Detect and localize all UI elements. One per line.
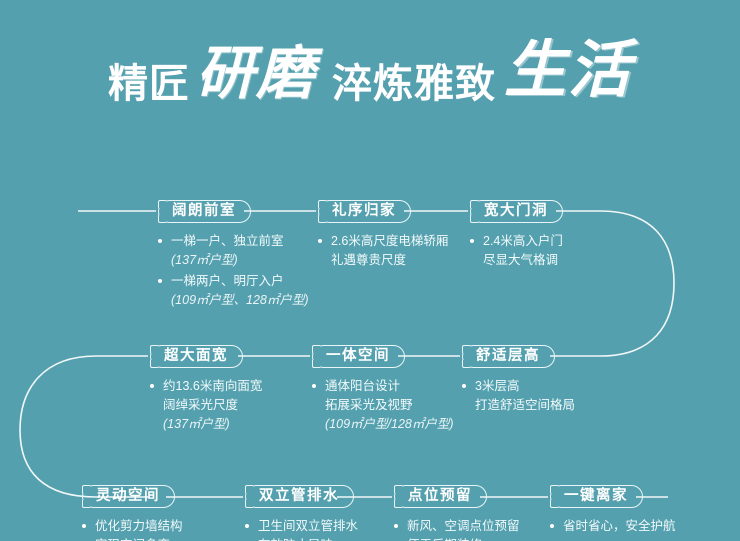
feature-card-yijian-lijia: 一键离家 省时省心，安全护航 xyxy=(550,485,676,538)
feature-card-chaoda-miankuan: 超大面宽 约13.6米南向面宽 阔绰采光尺度 (137㎡户型) xyxy=(150,345,262,436)
feature-card-lixu-guijia: 礼序归家 2.6米高尺度电梯轿厢 礼遇尊贵尺度 xyxy=(318,200,448,272)
bullet-line: 有效防止异味 xyxy=(258,536,358,541)
feature-badge[interactable]: 一键离家 xyxy=(550,485,643,508)
feature-card-dianwei-yuliu: 点位预留 新风、空调点位预留 便于后期装修 xyxy=(394,485,520,541)
bullet-line: 3米层高 xyxy=(475,377,575,395)
bullet-dot-icon xyxy=(550,524,554,528)
feature-bullet-list: 3米层高 打造舒适空间格局 xyxy=(462,377,575,414)
feature-title: 灵动空间 xyxy=(96,488,160,504)
feature-badge[interactable]: 双立管排水 xyxy=(245,485,354,508)
bullet-dot-icon xyxy=(462,384,466,388)
feature-badge[interactable]: 阔朗前室 xyxy=(158,200,251,223)
list-item: 一梯一户、独立前室 (137㎡户型) xyxy=(158,232,309,269)
feature-card-kuanda-mendong: 宽大门洞 2.4米高入户门 尽显大气格调 xyxy=(470,200,563,272)
bullet-line: 实现空间多变 xyxy=(95,536,183,541)
list-item: 通体阳台设计 拓展采光及视野 (109㎡户型/128㎡户型) xyxy=(312,377,454,433)
headline-segment-1: 精匠 xyxy=(108,64,190,104)
feature-card-lingdong-kongjian: 灵动空间 优化剪力墙结构 实现空间多变 xyxy=(82,485,183,541)
bullet-dot-icon xyxy=(245,524,249,528)
feature-card-yiti-kongjian: 一体空间 通体阳台设计 拓展采光及视野 (109㎡户型/128㎡户型) xyxy=(312,345,454,436)
feature-badge[interactable]: 宽大门洞 xyxy=(470,200,563,223)
list-item: 一梯两户、明厅入户 (109㎡户型、128㎡户型) xyxy=(158,272,309,309)
feature-bullet-list: 省时省心，安全护航 xyxy=(550,517,676,535)
bullet-line: 通体阳台设计 xyxy=(325,377,454,395)
list-item: 新风、空调点位预留 便于后期装修 xyxy=(394,517,520,541)
bullet-dot-icon xyxy=(158,239,162,243)
bullet-line: 一梯两户、明厅入户 xyxy=(171,272,309,290)
feature-bullet-list: 2.4米高入户门 尽显大气格调 xyxy=(470,232,563,269)
bullet-line-sub: (109㎡户型/128㎡户型) xyxy=(325,415,454,433)
feature-title: 宽大门洞 xyxy=(484,203,548,219)
feature-bullet-list: 通体阳台设计 拓展采光及视野 (109㎡户型/128㎡户型) xyxy=(312,377,454,433)
feature-badge[interactable]: 舒适层高 xyxy=(462,345,555,368)
feature-title: 礼序归家 xyxy=(332,203,396,219)
feature-badge[interactable]: 点位预留 xyxy=(394,485,487,508)
bullet-line-sub: (109㎡户型、128㎡户型) xyxy=(171,291,309,309)
feature-badge[interactable]: 灵动空间 xyxy=(82,485,175,508)
bullet-line: 2.6米高尺度电梯轿厢 xyxy=(331,232,448,250)
page-title: 精匠研磨淬炼雅致生活 xyxy=(0,40,740,126)
bullet-dot-icon xyxy=(150,384,154,388)
feature-bullet-list: 一梯一户、独立前室 (137㎡户型) 一梯两户、明厅入户 (109㎡户型、128… xyxy=(158,232,309,309)
feature-bullet-list: 新风、空调点位预留 便于后期装修 xyxy=(394,517,520,541)
bullet-line-sub: (137㎡户型) xyxy=(171,251,309,269)
bullet-dot-icon xyxy=(394,524,398,528)
poster-root: 精匠研磨淬炼雅致生活 阔朗前室 一梯一户、独立前室 (137㎡户型) xyxy=(0,0,740,541)
feature-title: 一体空间 xyxy=(326,348,390,364)
bullet-line: 一梯一户、独立前室 xyxy=(171,232,309,250)
bullet-line: 尽显大气格调 xyxy=(483,251,563,269)
feature-badge[interactable]: 礼序归家 xyxy=(318,200,411,223)
bullet-line: 卫生间双立管排水 xyxy=(258,517,358,535)
list-item: 3米层高 打造舒适空间格局 xyxy=(462,377,575,414)
feature-title: 双立管排水 xyxy=(259,488,339,504)
bullet-line: 省时省心，安全护航 xyxy=(563,517,676,535)
feature-bullet-list: 优化剪力墙结构 实现空间多变 xyxy=(82,517,183,541)
headline-segment-2: 研磨 xyxy=(196,45,316,103)
bullet-line: 阔绰采光尺度 xyxy=(163,396,262,414)
bullet-line: 优化剪力墙结构 xyxy=(95,517,183,535)
headline-segment-4: 生活 xyxy=(504,40,632,102)
list-item: 2.6米高尺度电梯轿厢 礼遇尊贵尺度 xyxy=(318,232,448,269)
bullet-dot-icon xyxy=(318,239,322,243)
feature-card-shuangliguan-paishui: 双立管排水 卫生间双立管排水 有效防止异味 xyxy=(245,485,358,541)
list-item: 优化剪力墙结构 实现空间多变 xyxy=(82,517,183,541)
bullet-dot-icon xyxy=(312,384,316,388)
feature-bullet-list: 2.6米高尺度电梯轿厢 礼遇尊贵尺度 xyxy=(318,232,448,269)
bullet-line: 新风、空调点位预留 xyxy=(407,517,520,535)
feature-title: 阔朗前室 xyxy=(172,203,236,219)
connector-right-uturn xyxy=(550,211,674,356)
bullet-line: 打造舒适空间格局 xyxy=(475,396,575,414)
feature-badge[interactable]: 一体空间 xyxy=(312,345,405,368)
headline-segment-3: 淬炼雅致 xyxy=(332,64,496,104)
bullet-line: 约13.6米南向面宽 xyxy=(163,377,262,395)
connector-left-uturn xyxy=(20,356,150,497)
bullet-dot-icon xyxy=(470,239,474,243)
list-item: 2.4米高入户门 尽显大气格调 xyxy=(470,232,563,269)
feature-title: 超大面宽 xyxy=(164,348,228,364)
bullet-line: 便于后期装修 xyxy=(407,536,520,541)
feature-badge[interactable]: 超大面宽 xyxy=(150,345,243,368)
feature-title: 一键离家 xyxy=(564,488,628,504)
feature-bullet-list: 卫生间双立管排水 有效防止异味 xyxy=(245,517,358,541)
feature-card-shushi-cenggao: 舒适层高 3米层高 打造舒适空间格局 xyxy=(462,345,575,417)
list-item: 省时省心，安全护航 xyxy=(550,517,676,535)
feature-title: 点位预留 xyxy=(408,488,472,504)
list-item: 卫生间双立管排水 有效防止异味 xyxy=(245,517,358,541)
bullet-line: 礼遇尊贵尺度 xyxy=(331,251,448,269)
bullet-dot-icon xyxy=(158,279,162,283)
feature-title: 舒适层高 xyxy=(476,348,540,364)
feature-bullet-list: 约13.6米南向面宽 阔绰采光尺度 (137㎡户型) xyxy=(150,377,262,433)
bullet-line-sub: (137㎡户型) xyxy=(163,415,262,433)
bullet-dot-icon xyxy=(82,524,86,528)
bullet-line: 2.4米高入户门 xyxy=(483,232,563,250)
bullet-line: 拓展采光及视野 xyxy=(325,396,454,414)
feature-card-kuolang-qianshi: 阔朗前室 一梯一户、独立前室 (137㎡户型) 一梯两户、明厅入户 (109㎡户… xyxy=(158,200,309,312)
list-item: 约13.6米南向面宽 阔绰采光尺度 (137㎡户型) xyxy=(150,377,262,433)
